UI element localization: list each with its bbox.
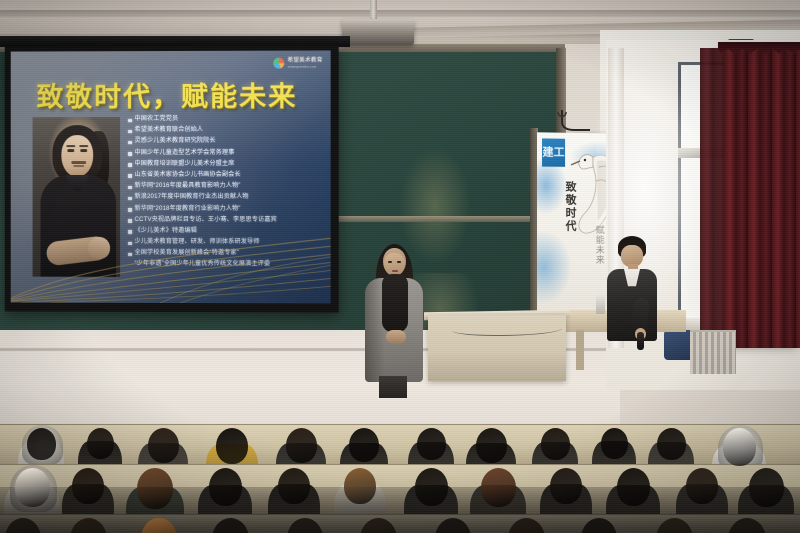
scroll-seal: 建工 bbox=[542, 138, 565, 166]
slide-title: 致敬时代，赋能未来 bbox=[37, 75, 327, 115]
audience-member-head bbox=[415, 468, 448, 506]
audience-member-head bbox=[72, 468, 104, 504]
slide-bullet-text: 山东省美术家协会少儿书画协会副会长 bbox=[135, 171, 241, 179]
audience-member-head bbox=[601, 428, 628, 459]
audience-member-head bbox=[87, 428, 114, 459]
slide-bullet-item: 《少儿美术》特邀编辑 bbox=[128, 227, 327, 235]
square-bullet-icon bbox=[128, 208, 131, 211]
second-presenter bbox=[604, 236, 660, 346]
audience-member-head bbox=[27, 428, 56, 460]
slide-bullet-text: 中国少年儿童造型艺术学会常务理事 bbox=[135, 149, 235, 157]
ceiling-beam bbox=[0, 10, 800, 17]
audience-member-head bbox=[286, 428, 317, 463]
slide-bullet-item: 新华网“2018年度教育行业影响力人物” bbox=[128, 204, 327, 212]
speaker-scarf bbox=[382, 274, 408, 332]
portrait-brow-left bbox=[66, 145, 75, 147]
slide-bullet-list: 中国农工党党员希望美术教育联合创始人灵感少儿美术教育研究院院长中国少年儿童造型艺… bbox=[128, 115, 327, 272]
slide-bullet-text: “少年非遗”全国少年儿童优秀传统文化展演主评委 bbox=[135, 260, 271, 268]
scroll-hanger-icon bbox=[556, 110, 596, 136]
scroll-calligraphy: 致敬时代 bbox=[549, 181, 579, 233]
square-bullet-icon bbox=[128, 174, 131, 177]
audience-member-head bbox=[15, 468, 50, 507]
audience-member-head bbox=[349, 428, 379, 462]
slide-logo-subtext: xiwangmeishu.com bbox=[288, 64, 323, 68]
speaker-eye-right bbox=[397, 261, 401, 263]
slide-bullet-item: 中国农工党党员 bbox=[128, 115, 327, 123]
slide-bullet-text: 《少儿美术》特邀编辑 bbox=[135, 227, 197, 235]
slide-bullet-text: 少儿美术教育管理、研发、师训体系研发导师 bbox=[135, 238, 260, 246]
square-bullet-icon bbox=[128, 219, 131, 223]
audience-member-head bbox=[216, 428, 248, 464]
slide-bullet-text: 中国教育培训联盟少儿美术分盟主席 bbox=[135, 160, 235, 168]
lecture-hall-photo: 希望美术教育 xiwangmeishu.com 致敬时代，赋能未来 bbox=[0, 0, 800, 533]
ceiling-projector bbox=[342, 19, 414, 45]
square-bullet-icon bbox=[128, 130, 131, 134]
slide-bullet-item: “少年非遗”全国少年儿童优秀传统文化展演主评委 bbox=[128, 260, 327, 268]
square-bullet-icon bbox=[128, 141, 131, 144]
slide-bullet-item: 中国教育培训联盟少儿美术分盟主席 bbox=[128, 160, 327, 168]
slide-bullet-item: 希望美术教育联合创始人 bbox=[128, 126, 327, 134]
slide-bullet-item: 全国学校美育发展创新峰会“特邀专家” bbox=[128, 249, 327, 257]
slide-bullet-text: 新华网“2016年度最具教育影响力人物” bbox=[135, 182, 241, 190]
audience-member-head bbox=[749, 468, 784, 507]
slide-bullet-item: 山东省美术家协会少儿书画协会副会长 bbox=[128, 171, 327, 179]
square-bullet-icon bbox=[128, 152, 131, 155]
portrait-mouth bbox=[73, 165, 84, 167]
audience-member-head bbox=[148, 428, 179, 463]
slide-bullet-item: 新浪2017年度中国教育行业杰出贡献人物 bbox=[128, 193, 327, 201]
slide-bullet-text: 全国学校美育发展创新峰会“特邀专家” bbox=[135, 249, 239, 257]
square-bullet-icon bbox=[128, 241, 131, 245]
slide-bullet-text: 中国农工党党员 bbox=[135, 115, 179, 123]
blackboard-glare bbox=[400, 148, 470, 263]
slide-bullet-item: 新华网“2016年度最具教育影响力人物” bbox=[128, 182, 327, 190]
audience-member-head bbox=[417, 428, 446, 460]
square-bullet-icon bbox=[128, 163, 131, 166]
audience-member-head bbox=[137, 468, 173, 509]
slide-bullet-text: 灵感少儿美术教育研究院院长 bbox=[135, 137, 216, 145]
projection-screen: 希望美术教育 xiwangmeishu.com 致敬时代，赋能未来 bbox=[5, 45, 339, 312]
slide-logo-text: 希望美术教育 bbox=[288, 58, 323, 64]
audience-member-head bbox=[550, 468, 582, 504]
audience-member-head bbox=[723, 428, 756, 466]
audience-member-head bbox=[344, 468, 376, 504]
slide-bullet-item: 少儿美术教育管理、研发、师训体系研发导师 bbox=[128, 238, 327, 246]
slide-bullet-text: CCTV央视品牌栏目专访、王小骞、李思思专访嘉宾 bbox=[135, 216, 277, 224]
square-bullet-icon bbox=[128, 253, 131, 257]
square-bullet-icon bbox=[128, 119, 131, 123]
portrait-face bbox=[61, 135, 93, 177]
speaker-eye-left bbox=[388, 261, 392, 263]
square-bullet-icon bbox=[128, 230, 131, 234]
slide-bullet-item: CCTV央视品牌栏目专访、王小骞、李思思专访嘉宾 bbox=[128, 216, 327, 224]
portrait-eye-right bbox=[80, 149, 87, 151]
square-bullet-icon bbox=[128, 186, 131, 189]
slide-bullet-item: 灵感少儿美术教育研究院院长 bbox=[128, 137, 327, 145]
slide-logo: 希望美术教育 xiwangmeishu.com bbox=[273, 58, 322, 69]
slide-bullet-text: 新浪2017年度中国教育行业杰出贡献人物 bbox=[135, 193, 249, 201]
portrait-eye-left bbox=[67, 149, 74, 151]
speaker-mouth bbox=[392, 270, 398, 272]
slide-portrait-photo bbox=[33, 117, 121, 277]
audience-member-head bbox=[481, 468, 516, 507]
audience-member-head bbox=[686, 468, 718, 504]
square-bullet-icon bbox=[128, 197, 131, 200]
audience-member-head bbox=[278, 468, 310, 504]
slide-bullet-text: 希望美术教育联合创始人 bbox=[135, 126, 204, 134]
portrait-brow-right bbox=[79, 145, 88, 147]
portrait-moustache bbox=[71, 161, 86, 164]
speaker-face bbox=[384, 253, 405, 276]
slide-bullet-item: 中国少年儿童造型艺术学会常务理事 bbox=[128, 148, 327, 156]
audience-member-head bbox=[476, 428, 507, 463]
slide-bullet-text: 新华网“2018年度教育行业影响力人物” bbox=[135, 204, 241, 212]
slide-surface: 希望美术教育 xiwangmeishu.com 致敬时代，赋能未来 bbox=[11, 50, 331, 303]
window-curtain[interactable] bbox=[724, 48, 800, 348]
audience-member-head bbox=[617, 468, 650, 506]
brand-mark-icon bbox=[273, 58, 284, 69]
audience-member-head bbox=[541, 428, 570, 460]
audience-member-head bbox=[209, 468, 242, 506]
audience-member-head bbox=[657, 428, 686, 460]
